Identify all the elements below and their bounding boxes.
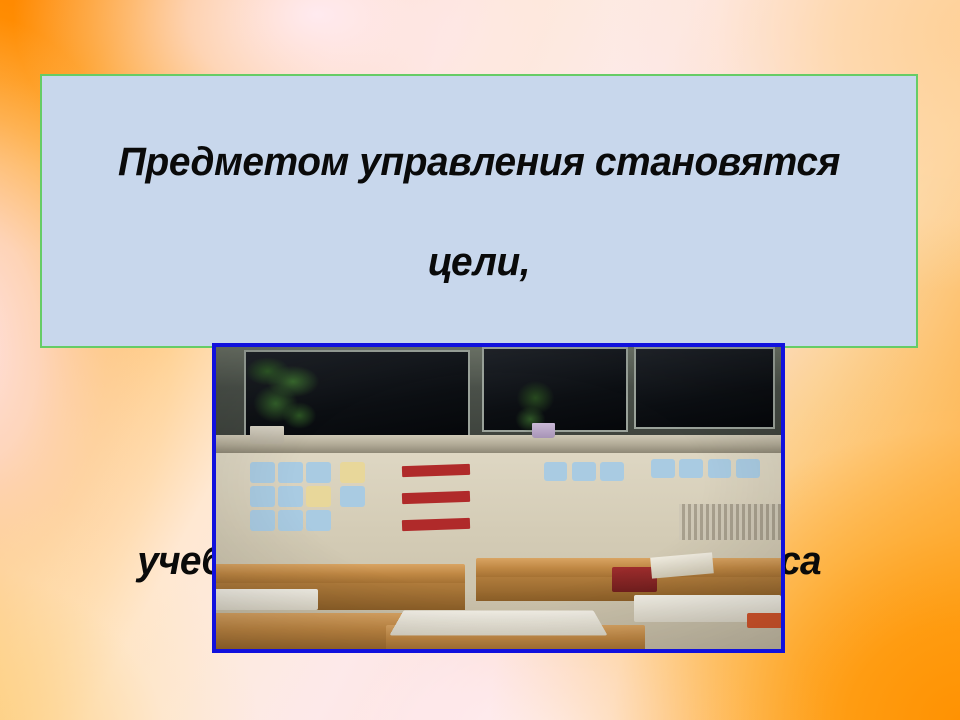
classroom-photo-frame — [212, 343, 785, 653]
slide-root: Предметом управления становятся цели, со… — [0, 0, 960, 720]
title-text-box: Предметом управления становятся цели, со… — [40, 74, 918, 348]
photo-vignette — [216, 347, 781, 649]
classroom-photo — [216, 347, 781, 649]
title-line-1: Предметом управления становятся — [69, 136, 890, 188]
title-line-2: цели, — [69, 238, 890, 286]
